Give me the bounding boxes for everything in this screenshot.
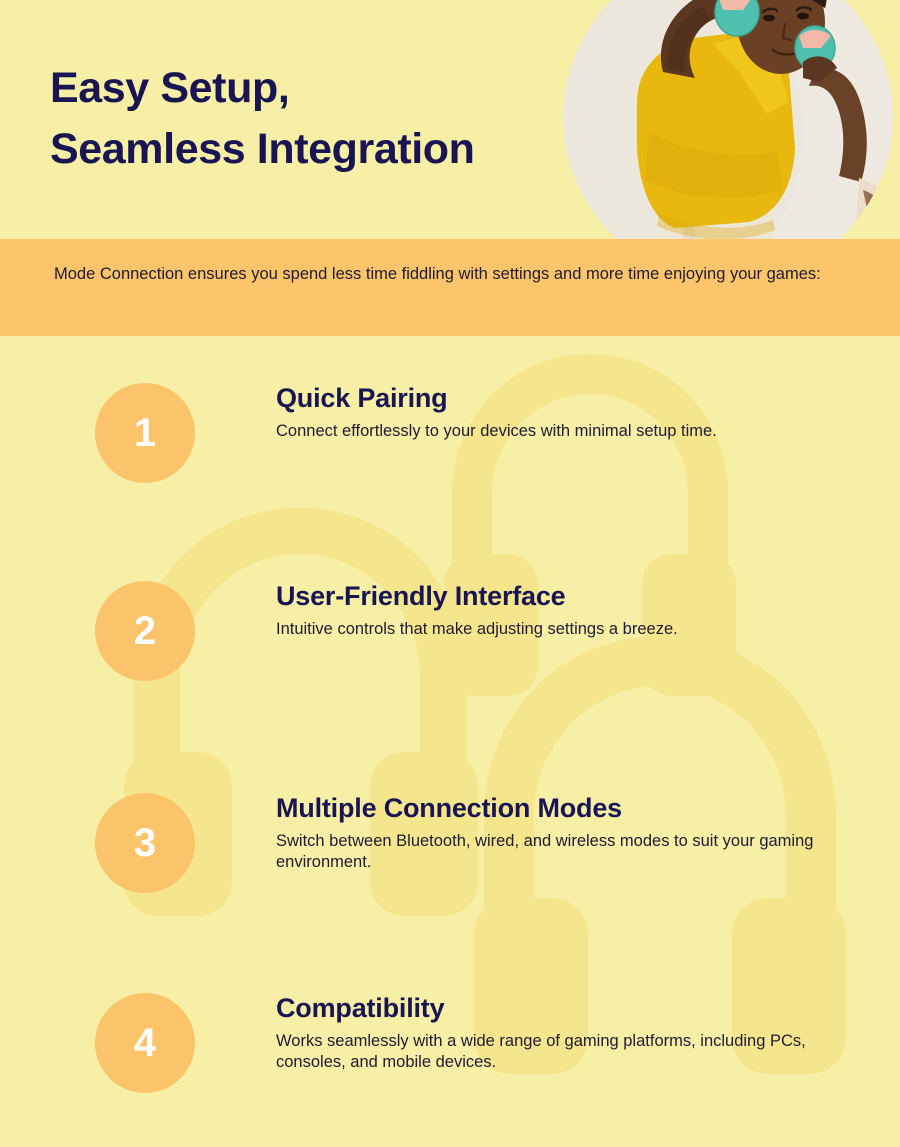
feature-title-4: Compatibility [276, 993, 876, 1025]
feature-title-2: User-Friendly Interface [276, 581, 876, 613]
feature-badge-3: 3 [95, 793, 195, 893]
feature-body-3: Multiple Connection Modes Switch between… [276, 793, 876, 874]
feature-item-2: 2 User-Friendly Interface Intuitive cont… [0, 581, 900, 711]
feature-body-2: User-Friendly Interface Intuitive contro… [276, 581, 876, 640]
feature-body-1: Quick Pairing Connect effortlessly to yo… [276, 383, 876, 442]
hero-section: Easy Setup, Seamless Integration [0, 0, 900, 239]
feature-number-3: 3 [134, 823, 156, 863]
feature-item-3: 3 Multiple Connection Modes Switch betwe… [0, 793, 900, 923]
feature-title-1: Quick Pairing [276, 383, 876, 415]
feature-item-1: 1 Quick Pairing Connect effortlessly to … [0, 383, 900, 513]
hero-photo [563, 0, 893, 239]
feature-badge-1: 1 [95, 383, 195, 483]
feature-description-1: Connect effortlessly to your devices wit… [276, 421, 876, 442]
feature-badge-4: 4 [95, 993, 195, 1093]
feature-number-2: 2 [134, 611, 156, 651]
intro-banner-text: Mode Connection ensures you spend less t… [54, 263, 844, 286]
feature-title-3: Multiple Connection Modes [276, 793, 876, 825]
feature-description-2: Intuitive controls that make adjusting s… [276, 619, 876, 640]
intro-banner: Mode Connection ensures you spend less t… [0, 239, 900, 336]
infographic-poster: Easy Setup, Seamless Integration Mode Co… [0, 0, 900, 1147]
feature-body-4: Compatibility Works seamlessly with a wi… [276, 993, 876, 1074]
feature-description-4: Works seamlessly with a wide range of ga… [276, 1031, 876, 1074]
feature-description-3: Switch between Bluetooth, wired, and wir… [276, 831, 876, 874]
feature-badge-2: 2 [95, 581, 195, 681]
title-line-1: Easy Setup, [50, 58, 590, 119]
page-title: Easy Setup, Seamless Integration [50, 58, 590, 180]
feature-number-4: 4 [134, 1023, 156, 1063]
title-line-2: Seamless Integration [50, 119, 590, 180]
feature-number-1: 1 [134, 413, 156, 453]
feature-item-4: 4 Compatibility Works seamlessly with a … [0, 993, 900, 1123]
